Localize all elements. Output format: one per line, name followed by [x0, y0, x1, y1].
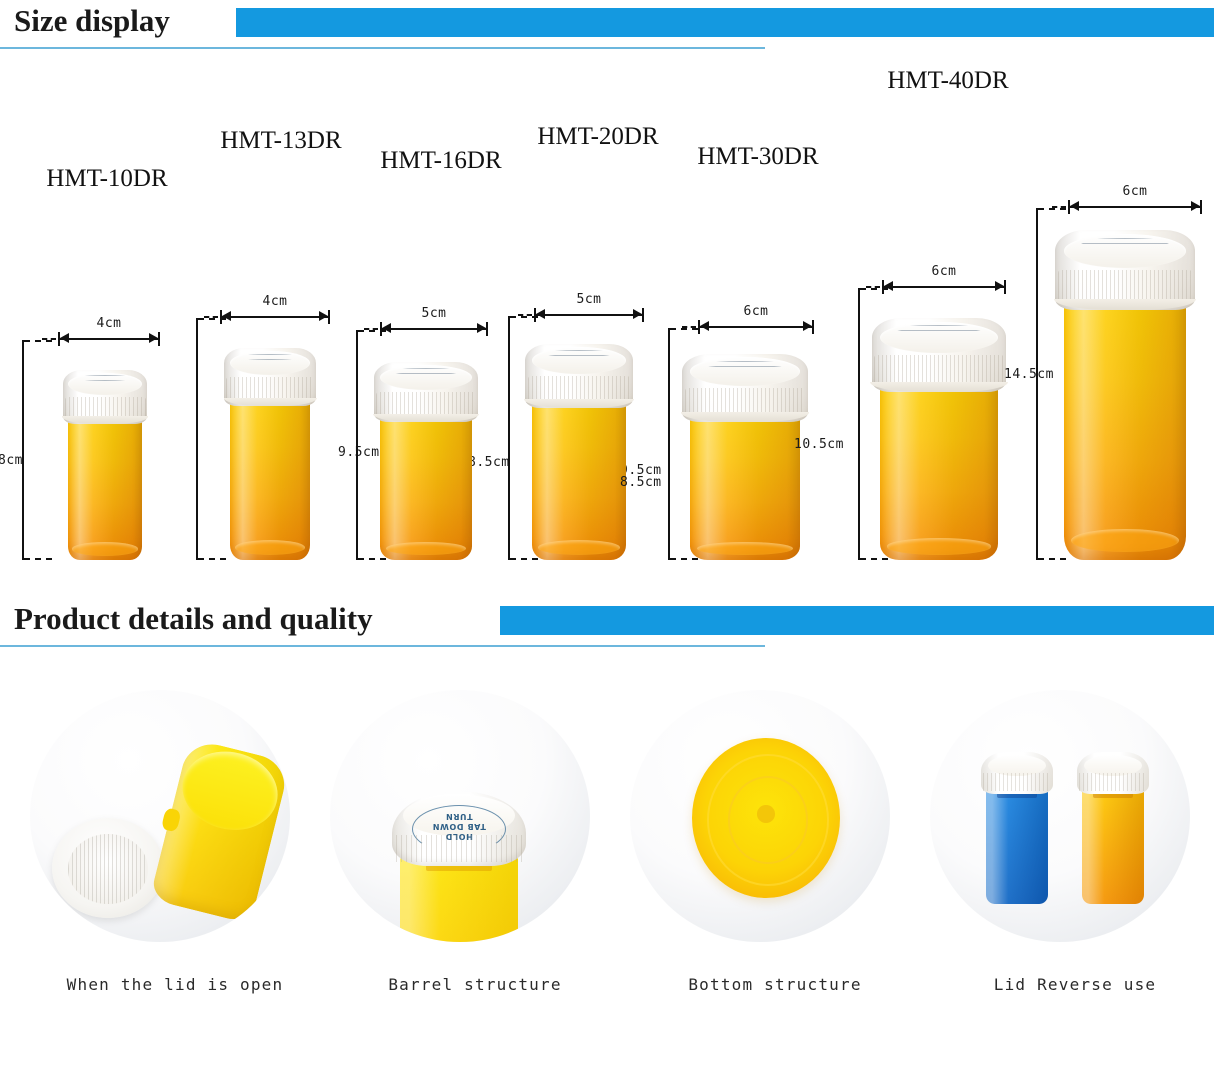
cap-text: [241, 354, 299, 360]
bottle-body: [380, 408, 472, 560]
width-gauge: 4cm: [220, 310, 330, 324]
model-label: HMT-16DR: [380, 147, 501, 175]
bottle-body: [532, 394, 626, 560]
height-tick-top: [670, 328, 698, 330]
width-label: 4cm: [97, 316, 122, 331]
bottle-cap: [1077, 752, 1149, 794]
bottle-cap-reversed: [981, 752, 1053, 794]
bottle-figure: [380, 362, 472, 560]
cap-top: HOLD TAB DOWN TURN: [403, 795, 516, 836]
width-line: [534, 314, 644, 316]
height-label: 8.5cm: [468, 455, 510, 470]
cap-top: [1064, 234, 1186, 268]
width-cap-right: [812, 320, 814, 334]
width-cap-right: [486, 322, 488, 336]
width-arrow-right: [1191, 201, 1200, 211]
size-spec-hmt-40dr: HMT-40DR 10.5cm 6cm: [858, 220, 1038, 560]
width-label: 6cm: [1123, 184, 1148, 199]
width-line: [882, 286, 1006, 288]
bottle-cap: [872, 318, 1007, 392]
section-title: Product details and quality: [14, 598, 373, 640]
width-arrow-right: [803, 321, 812, 331]
width-label: 4cm: [263, 294, 288, 309]
width-line: [380, 328, 488, 330]
width-line: [58, 338, 160, 340]
cap-top: [230, 351, 310, 375]
width-arrow-left: [382, 323, 391, 333]
cap-top: [690, 357, 800, 386]
model-label: HMT-13DR: [220, 127, 341, 155]
bottle-figure: [230, 348, 310, 560]
photo-card-bottom-structure[interactable]: Bottom structure: [630, 690, 920, 950]
width-predash: [42, 338, 56, 340]
photo-caption: Barrel structure: [330, 975, 620, 994]
width-cap-right: [1004, 280, 1006, 294]
bottle-figure: [1064, 230, 1186, 560]
bottle-figure: [532, 344, 626, 560]
width-label: 5cm: [577, 292, 602, 307]
bottle-cap: [1055, 230, 1194, 310]
bottle-figure: [690, 354, 800, 560]
bottle-body: [690, 408, 800, 560]
header-accent-bar: [236, 8, 1214, 37]
cap-text-line-2: TAB DOWN: [407, 821, 511, 831]
size-spec-hmt-20dr: HMT-20DR 9.5cm 5cm: [508, 248, 688, 560]
cap-text: [545, 350, 613, 357]
size-chart: HMT-10DR 8cm 4cm HMT-13DR: [0, 60, 1214, 560]
cap-lip: [1054, 299, 1196, 310]
bottle-cap: [682, 354, 807, 422]
capped-bottle: HOLD TAB DOWN TURN: [392, 768, 526, 942]
width-arrow-left: [222, 311, 231, 321]
width-gauge: 6cm: [1068, 200, 1202, 214]
photo-open-lid: [30, 690, 290, 942]
bottle-cap: [374, 362, 479, 422]
vial-tab: [161, 807, 182, 832]
size-spec-hmt-16dr: HMT-16DR 8.5cm 5cm: [356, 260, 526, 560]
header-accent-bar: [500, 606, 1214, 635]
photo-card-lid-reverse[interactable]: Lid Reverse use: [930, 690, 1214, 950]
width-predash: [204, 316, 218, 318]
section-header-size-display: Size display: [0, 0, 1214, 50]
photo-lid-reverse-use: [930, 690, 1190, 942]
cap-text-line-3: TURN: [407, 811, 511, 821]
height-label: 8.5cm: [620, 475, 662, 490]
bottle-body: [400, 856, 518, 942]
width-label: 6cm: [932, 264, 957, 279]
cap-ribs: [1079, 773, 1147, 791]
photo-card-lid-open[interactable]: When the lid is open: [30, 690, 320, 950]
photo-card-barrel-structure[interactable]: HOLD TAB DOWN TURN Barrel structure: [330, 690, 620, 950]
width-gauge: 4cm: [58, 332, 160, 346]
cap-ribs: [983, 773, 1051, 791]
photo-bottom-structure: [630, 690, 890, 942]
size-spec-hmt-13dr: HMT-13DR 9.5cm 4cm: [196, 250, 366, 560]
bottle-figure: [68, 370, 142, 560]
model-label: HMT-40DR: [887, 67, 1008, 95]
cap-lip: [373, 414, 480, 422]
size-spec-hmt-60dr: HMT-60DR 14.5cm 6cm: [1036, 140, 1214, 560]
width-cap-right: [1200, 200, 1202, 214]
cap-lip: [62, 416, 148, 424]
height-gauge: [508, 316, 510, 560]
cap-text: [705, 361, 784, 368]
width-arrow-right: [633, 309, 642, 319]
cap-lip: [870, 382, 1007, 392]
bottle-cap: [525, 344, 632, 408]
header-underline: [0, 645, 765, 647]
cap-top: [880, 322, 998, 353]
model-label: HMT-10DR: [46, 165, 167, 193]
width-arrow-right: [149, 333, 158, 343]
width-predash: [682, 326, 696, 328]
width-arrow-left: [884, 281, 893, 291]
height-tick-bottom: [198, 558, 226, 560]
cap-lip: [224, 398, 317, 406]
width-arrow-right: [995, 281, 1004, 291]
section-header-product-details: Product details and quality: [0, 598, 1214, 648]
width-predash: [364, 328, 378, 330]
width-line: [1068, 206, 1202, 208]
detached-cap: [52, 818, 164, 918]
height-gauge: [356, 330, 358, 560]
height-label: 14.5cm: [1004, 367, 1054, 382]
bottle-body: [1064, 298, 1186, 560]
vial-mouth: [174, 742, 285, 839]
width-arrow-right: [477, 323, 486, 333]
cap-text: [896, 325, 981, 333]
bottle-body: [68, 412, 142, 560]
width-arrow-right: [319, 311, 328, 321]
height-gauge: [1036, 208, 1038, 560]
bottle-body: [880, 380, 998, 560]
size-spec-hmt-30dr: HMT-30DR 8.5cm 6cm: [668, 258, 848, 560]
bottle-bottom-view: [692, 738, 840, 898]
width-label: 5cm: [422, 306, 447, 321]
width-predash: [518, 314, 532, 316]
cap-top: [380, 365, 472, 390]
width-gauge: 5cm: [534, 308, 644, 322]
height-tick-top: [24, 340, 52, 342]
height-gauge: [22, 340, 24, 560]
width-label: 6cm: [744, 304, 769, 319]
width-cap-right: [328, 310, 330, 324]
width-arrow-left: [536, 309, 545, 319]
height-label: 8cm: [0, 453, 23, 468]
bottom-center-nub: [757, 805, 775, 823]
width-gauge: 6cm: [882, 280, 1006, 294]
cap-text: [1081, 238, 1169, 247]
bottle-cap: [63, 370, 147, 424]
width-gauge: 5cm: [380, 322, 488, 336]
photo-caption: Bottom structure: [630, 975, 920, 994]
cap-inner-ribs: [68, 834, 149, 904]
photo-barrel-structure: HOLD TAB DOWN TURN: [330, 690, 590, 942]
header-underline: [0, 47, 765, 49]
bottle-cap: HOLD TAB DOWN TURN: [392, 792, 526, 866]
cap-text: [393, 368, 459, 375]
height-gauge: [858, 288, 860, 560]
bottle-body: [230, 394, 310, 560]
height-label: 10.5cm: [794, 437, 844, 452]
bottle-body: [986, 788, 1048, 904]
open-vial: [149, 738, 290, 924]
height-gauge: [668, 328, 670, 560]
cap-top: [532, 347, 626, 374]
width-predash: [866, 286, 880, 288]
model-label: HMT-30DR: [697, 143, 818, 171]
model-label: HMT-20DR: [537, 123, 658, 151]
page-title: Size display: [14, 0, 170, 42]
size-spec-hmt-10dr: HMT-10DR 8cm 4cm: [22, 270, 192, 560]
width-arrow-left: [1070, 201, 1079, 211]
width-line: [220, 316, 330, 318]
product-detail-gallery: When the lid is open HOLD TAB DOWN TURN: [0, 690, 1214, 1030]
width-arrow-left: [60, 333, 69, 343]
bottle-figure: [880, 318, 998, 560]
width-line: [698, 326, 814, 328]
photo-caption: Lid Reverse use: [930, 975, 1214, 994]
width-cap-right: [642, 308, 644, 322]
cap-ribs: [396, 835, 522, 862]
bottle-body: [1082, 788, 1144, 904]
height-tick-bottom: [24, 558, 52, 560]
cap-top: [68, 373, 142, 396]
width-predash: [1052, 206, 1066, 208]
cap-lip: [524, 399, 633, 408]
cap-text: [78, 375, 131, 381]
height-tick-bottom: [1038, 558, 1066, 560]
cap-lip: [681, 412, 809, 422]
height-gauge: [196, 318, 198, 560]
height-tick-top: [1038, 208, 1066, 210]
bottle-cap: [224, 348, 315, 406]
width-arrow-left: [700, 321, 709, 331]
width-gauge: 6cm: [698, 320, 814, 334]
width-cap-right: [158, 332, 160, 346]
photo-caption: When the lid is open: [30, 975, 320, 994]
